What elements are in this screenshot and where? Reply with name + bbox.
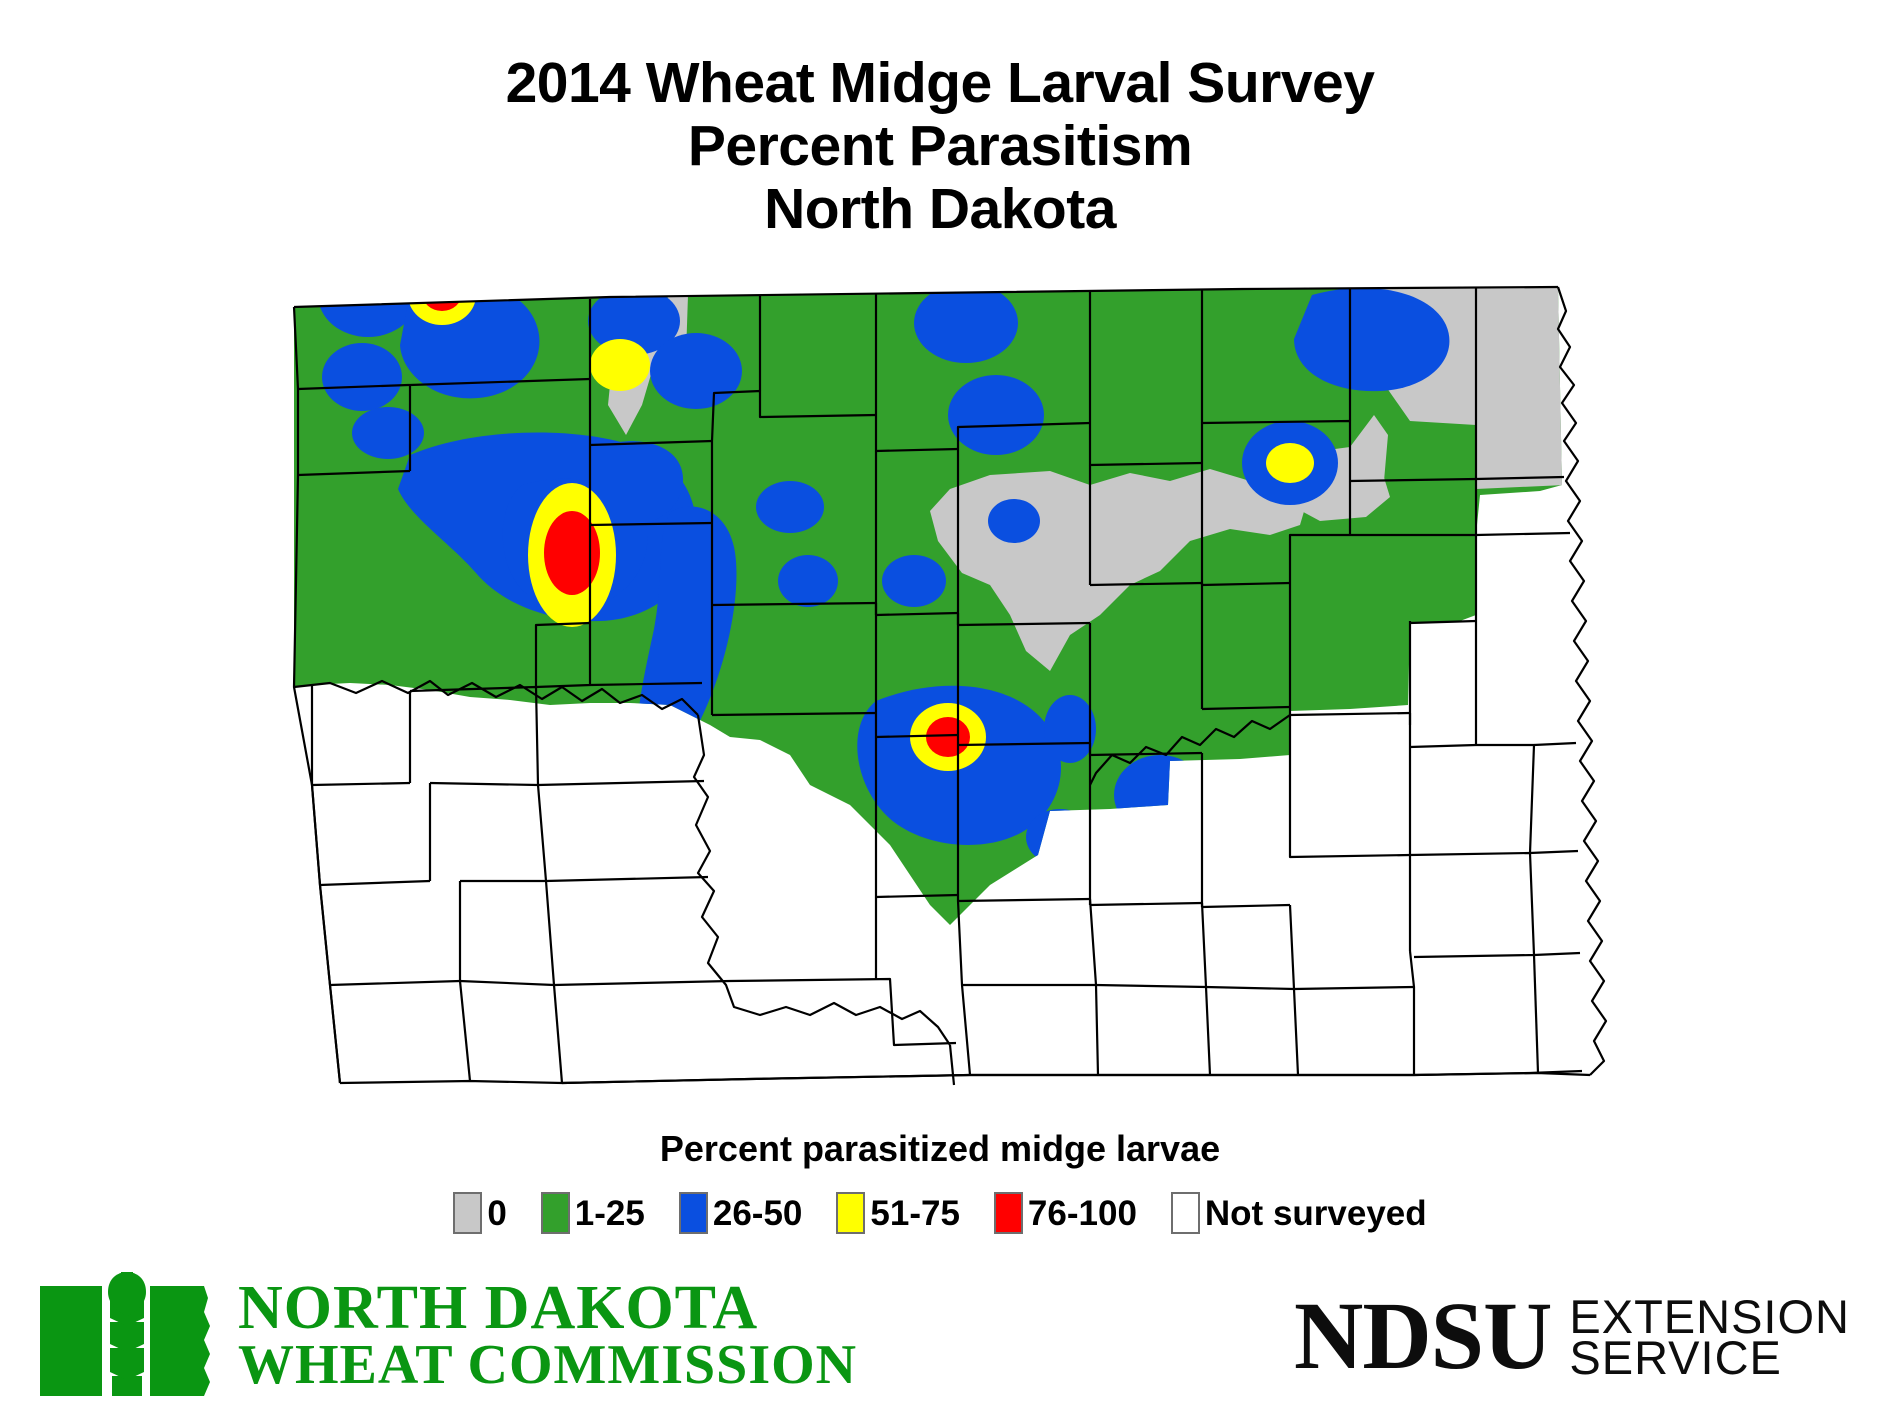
ndwc-line-1: NORTH DAKOTA [238, 1279, 857, 1339]
legend: 0 1-25 26-50 51-75 76-100 Not surveyed [0, 1192, 1880, 1234]
legend-item-1-25: 1-25 [541, 1192, 645, 1234]
legend-label-51-75: 51-75 [870, 1196, 960, 1231]
legend-item-76-100: 76-100 [994, 1192, 1137, 1234]
legend-label-0: 0 [487, 1196, 506, 1231]
legend-heading: Percent parasitized midge larvae [0, 1128, 1880, 1170]
legend-swatch-26-50 [679, 1192, 708, 1234]
legend-swatch-not-surveyed [1171, 1192, 1200, 1234]
title-line-3: North Dakota [0, 178, 1880, 241]
legend-item-51-75: 51-75 [836, 1192, 960, 1234]
legend-item-0: 0 [453, 1192, 506, 1234]
legend-swatch-76-100 [994, 1192, 1023, 1234]
ndsu-sub-line-2: SERVICE [1569, 1337, 1850, 1378]
title-line-2: Percent Parasitism [0, 115, 1880, 178]
legend-swatch-1-25 [541, 1192, 570, 1234]
ndsu-wordmark: NDSU [1294, 1288, 1551, 1384]
ndwc-line-2: WHEAT COMMISSION [238, 1339, 857, 1393]
map-svg: g[data-name="class-26-50-regions"] *{fil… [290, 285, 1610, 1095]
title-line-1: 2014 Wheat Midge Larval Survey [0, 52, 1880, 115]
ndsu-extension-service-logo: NDSU EXTENSION SERVICE [1294, 1288, 1850, 1384]
survey-map-page: 2014 Wheat Midge Larval Survey Percent P… [0, 0, 1880, 1410]
extension-service-wordmark: EXTENSION SERVICE [1569, 1288, 1850, 1379]
legend-label-26-50: 26-50 [713, 1196, 803, 1231]
legend-swatch-51-75 [836, 1192, 865, 1234]
wheat-state-icon [38, 1272, 224, 1400]
legend-item-26-50: 26-50 [679, 1192, 803, 1234]
north-dakota-choropleth-map: g[data-name="class-26-50-regions"] *{fil… [290, 285, 1610, 1095]
page-title: 2014 Wheat Midge Larval Survey Percent P… [0, 52, 1880, 241]
wheat-commission-wordmark: NORTH DAKOTA WHEAT COMMISSION [238, 1279, 857, 1392]
legend-swatch-0 [453, 1192, 482, 1234]
north-dakota-wheat-commission-logo: NORTH DAKOTA WHEAT COMMISSION [38, 1272, 857, 1400]
legend-label-not-surveyed: Not surveyed [1205, 1196, 1427, 1231]
legend-label-1-25: 1-25 [575, 1196, 645, 1231]
legend-item-not-surveyed: Not surveyed [1171, 1192, 1427, 1234]
legend-label-76-100: 76-100 [1028, 1196, 1137, 1231]
